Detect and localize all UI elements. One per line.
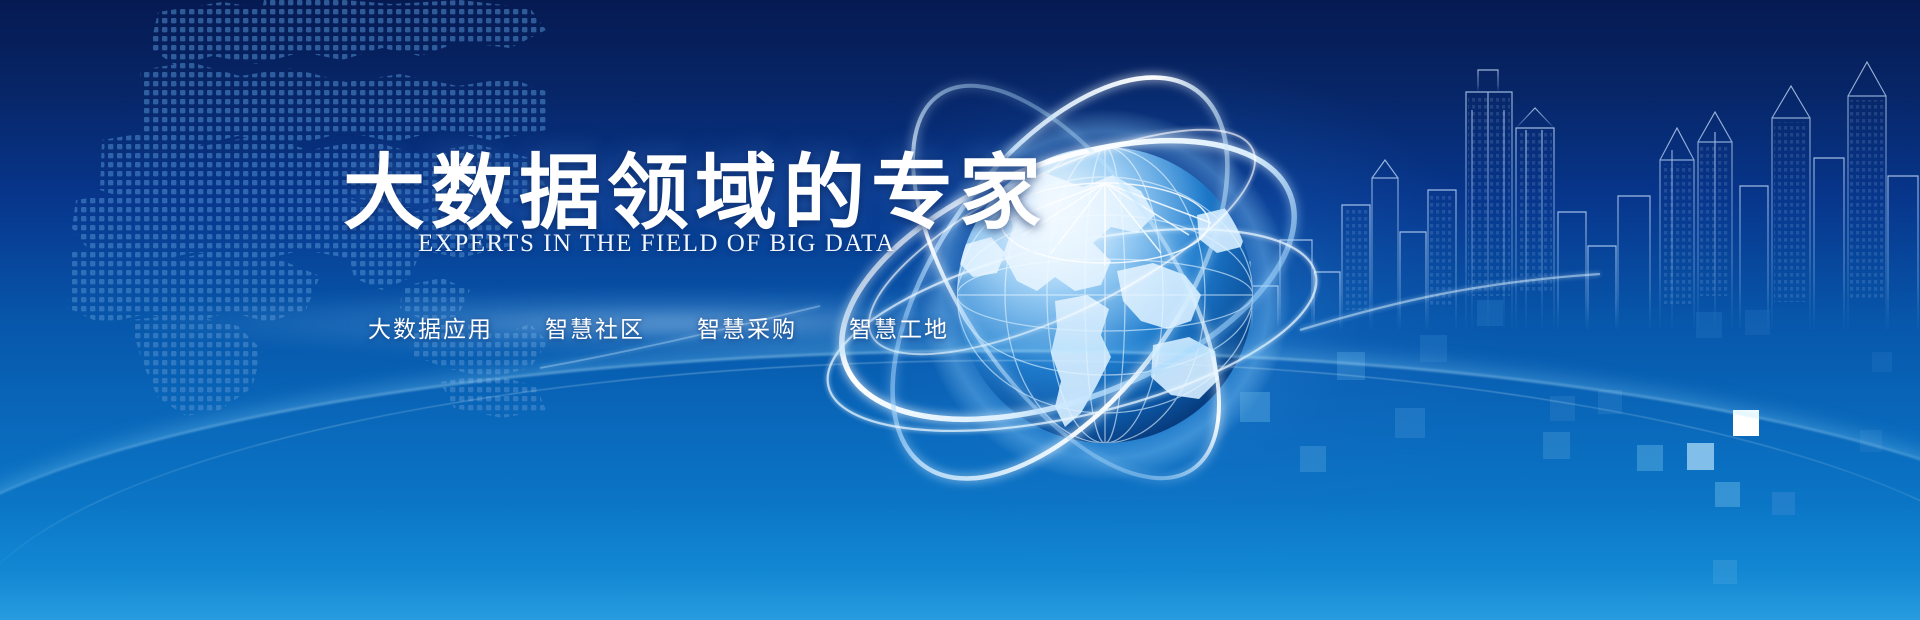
banner-content: 大数据领域的专家 EXPERTS IN THE FIELD OF BIG DAT… [0,0,1920,620]
page-title: 大数据领域的专家 [343,152,1047,236]
page-subtitle: EXPERTS IN THE FIELD OF BIG DATA [418,230,895,258]
nav-link-3[interactable]: 智慧采购 [697,310,797,344]
nav-link-4[interactable]: 智慧工地 [849,310,949,344]
nav-link-2[interactable]: 智慧社区 [545,310,645,344]
nav-link-1[interactable]: 大数据应用 [368,310,493,344]
banner-nav: 大数据应用智慧社区智慧采购智慧工地 [368,310,949,344]
hero-banner: 大数据领域的专家 EXPERTS IN THE FIELD OF BIG DAT… [0,0,1920,620]
